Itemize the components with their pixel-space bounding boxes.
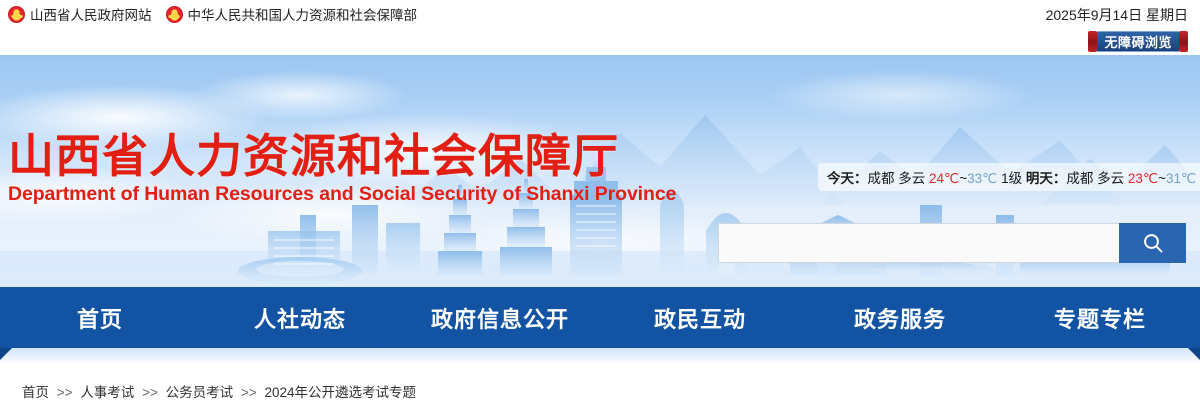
link-shanxi-gov[interactable]: 山西省人民政府网站: [8, 4, 152, 24]
breadcrumb-separator: >>: [57, 385, 73, 400]
link-mohrss[interactable]: 中华人民共和国人力资源和社会保障部: [166, 4, 418, 24]
weather-tomorrow-condition: 多云: [1097, 171, 1124, 186]
weather-today-label: 今天：: [827, 171, 868, 186]
weather-today-wind: 1级: [1001, 171, 1022, 186]
breadcrumb-separator: >>: [142, 385, 158, 400]
nav-item-interaction[interactable]: 政民互动: [600, 302, 800, 334]
national-emblem-icon: [8, 6, 25, 23]
nav-underglow: [0, 348, 1200, 364]
site-banner: 山西省人力资源和社会保障厅 Department of Human Resour…: [0, 55, 1200, 287]
breadcrumb-item-home[interactable]: 首页: [22, 385, 49, 400]
main-navigation: 首页 人社动态 政府信息公开 政民互动 政务服务 专题专栏: [0, 287, 1200, 348]
top-bar: 山西省人民政府网站 中华人民共和国人力资源和社会保障部 2025年9月14日 星…: [0, 0, 1200, 55]
site-search: [718, 223, 1186, 263]
weather-today-low: 24℃: [929, 171, 959, 186]
national-emblem-icon: [166, 6, 183, 23]
link-mohrss-label: 中华人民共和国人力资源和社会保障部: [188, 4, 418, 24]
accessibility-button-label: 无障碍浏览: [1097, 31, 1179, 52]
search-button[interactable]: [1119, 223, 1186, 263]
breadcrumb-separator: >>: [241, 385, 257, 400]
breadcrumb-item-civil-service[interactable]: 公务员考试: [166, 385, 234, 400]
top-bar-links: 山西省人民政府网站 中华人民共和国人力资源和社会保障部: [8, 4, 417, 24]
scroll-ornament-left-icon: [1088, 31, 1097, 52]
nav-item-topics[interactable]: 专题专栏: [1000, 302, 1200, 334]
nav-item-services[interactable]: 政务服务: [800, 302, 1000, 334]
breadcrumb: 首页 >> 人事考试 >> 公务员考试 >> 2024年公开遴选考试专题: [22, 381, 416, 401]
weather-tomorrow-high: 31℃: [1166, 171, 1196, 186]
weather-tomorrow-label: 明天：: [1026, 171, 1067, 186]
page-subtitle: Department of Human Resources and Social…: [8, 183, 676, 206]
weather-today-high: 33℃: [967, 171, 997, 186]
top-bar-right: 2025年9月14日 星期日 无障碍浏览: [1046, 5, 1188, 57]
current-date: 2025年9月14日 星期日: [1046, 5, 1188, 25]
accessibility-button[interactable]: 无障碍浏览: [1088, 31, 1188, 52]
breadcrumb-item-current: 2024年公开遴选考试专题: [264, 385, 416, 400]
nav-item-news[interactable]: 人社动态: [200, 302, 400, 334]
weather-today-sep: ~: [959, 171, 967, 186]
link-shanxi-gov-label: 山西省人民政府网站: [30, 4, 152, 24]
breadcrumb-item-exams[interactable]: 人事考试: [80, 385, 134, 400]
weather-tomorrow-low: 23℃: [1128, 171, 1158, 186]
scroll-ornament-right-icon: [1179, 31, 1188, 52]
weather-widget: 今天：成都 多云 24℃~33℃ 1级 明天：成都 多云 23℃~31℃ 2级: [818, 163, 1200, 191]
weather-tomorrow-city: 成都: [1066, 171, 1093, 186]
nav-item-gov-info[interactable]: 政府信息公开: [400, 302, 600, 334]
weather-today-condition: 多云: [898, 171, 925, 186]
weather-tomorrow-sep: ~: [1158, 171, 1166, 186]
search-icon: [1141, 231, 1165, 255]
search-input[interactable]: [718, 223, 1119, 263]
nav-item-home[interactable]: 首页: [0, 302, 200, 334]
weather-today-city: 成都: [868, 171, 895, 186]
page-title: 山西省人力资源和社会保障厅: [8, 133, 619, 179]
